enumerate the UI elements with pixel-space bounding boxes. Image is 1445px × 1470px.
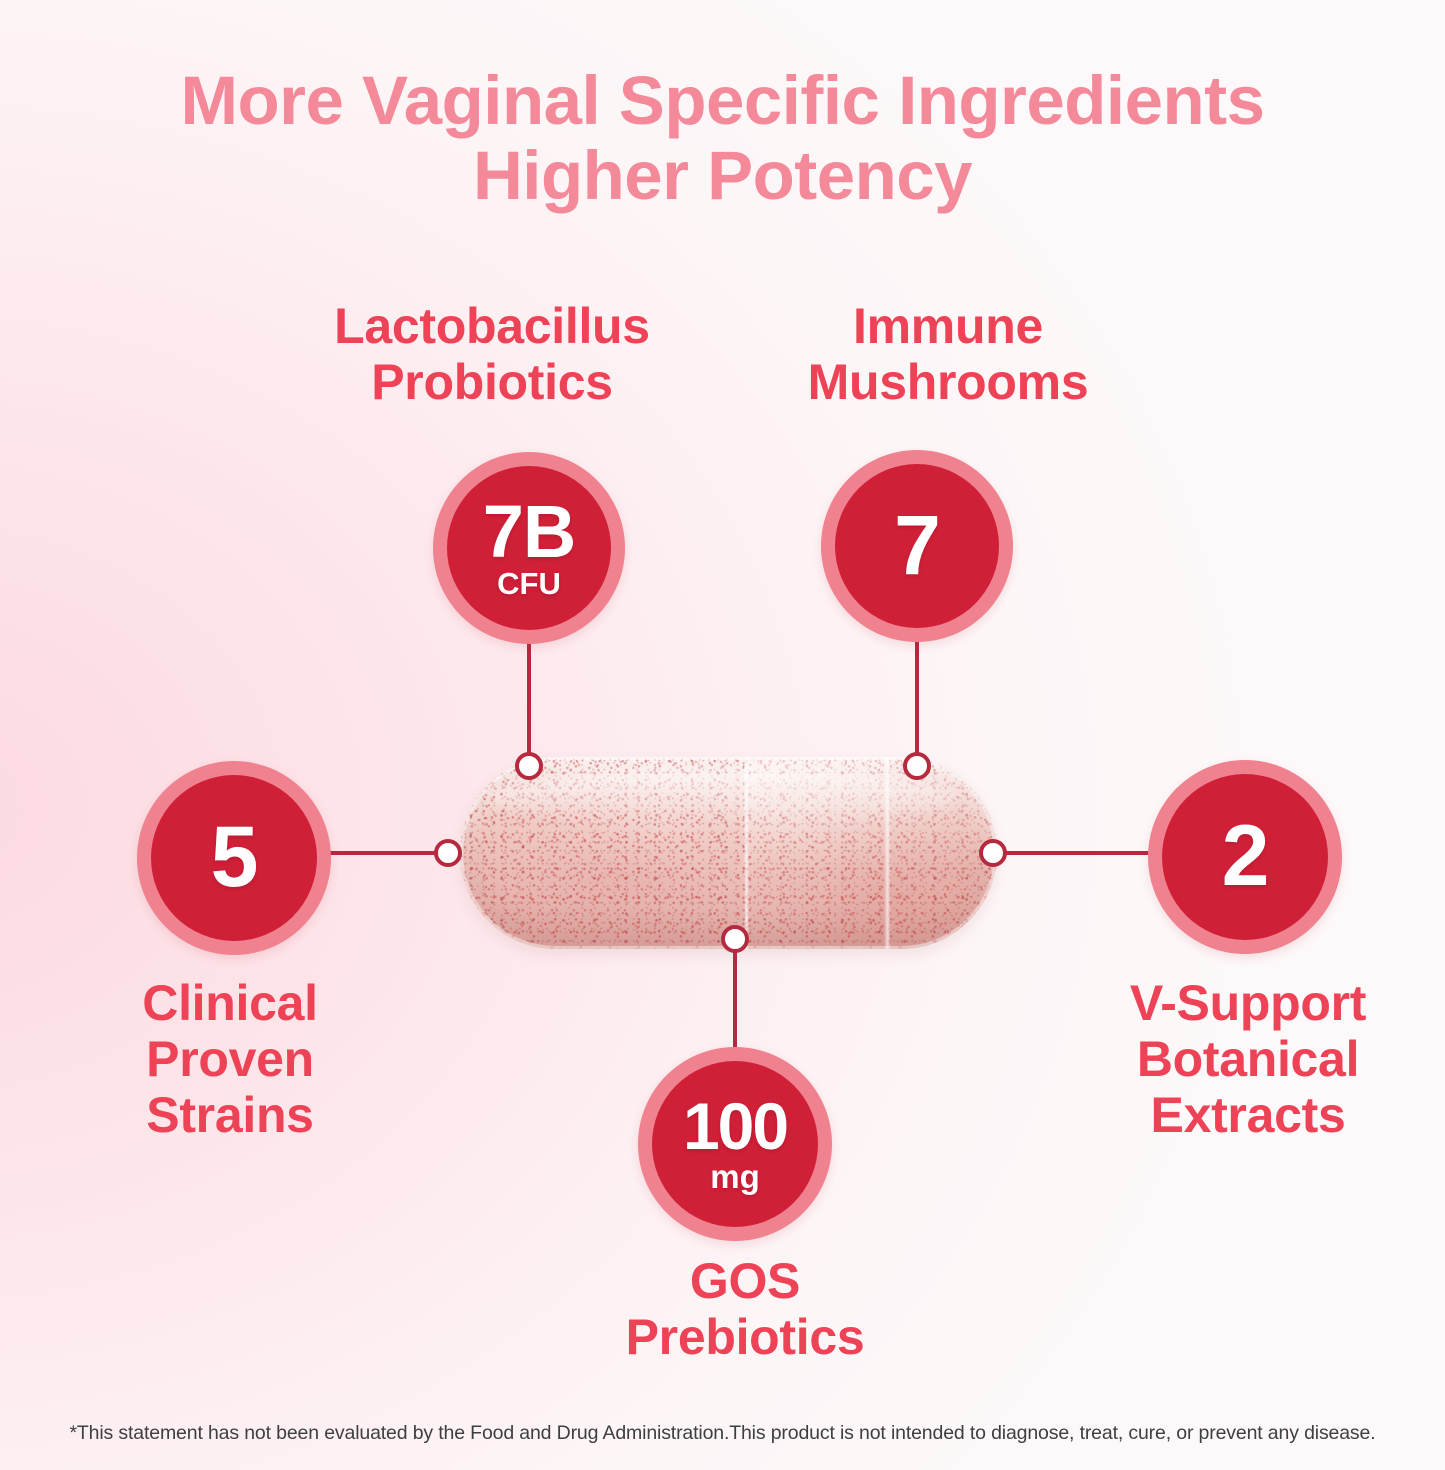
connector-line-lactobacillus	[527, 641, 531, 764]
capsule-rim	[460, 757, 997, 949]
badge-inner: 100 mg	[652, 1061, 818, 1227]
connector-dot-lactobacillus	[515, 752, 543, 780]
feature-label-line: Prebiotics	[545, 1309, 945, 1365]
badge-v-support-botanical-extracts: 2	[1148, 760, 1342, 954]
connector-dot-immune	[903, 752, 931, 780]
feature-label-line: Probiotics	[248, 354, 736, 410]
feature-label-gos-prebiotics: GOS Prebiotics	[545, 1253, 945, 1365]
badge-clinical-proven-strains: 5	[137, 761, 331, 955]
feature-label-line: GOS	[545, 1253, 945, 1309]
page-title-line-2: Higher Potency	[0, 139, 1445, 214]
badge-value: 7	[894, 506, 940, 586]
feature-label-line: Immune	[740, 298, 1156, 354]
ingredient-infographic: More Vaginal Specific Ingredients Higher…	[0, 0, 1445, 1470]
feature-label-clinical-proven-strains: Clinical Proven Strains	[60, 975, 400, 1143]
badge-unit: mg	[710, 1161, 760, 1192]
feature-label-line: Clinical	[60, 975, 400, 1031]
page-title: More Vaginal Specific Ingredients Higher…	[0, 64, 1445, 213]
capsule-image	[460, 757, 997, 949]
connector-line-gos	[733, 940, 737, 1052]
connector-line-vsupport	[993, 851, 1151, 855]
feature-label-lactobacillus-probiotics: Lactobacillus Probiotics	[248, 298, 736, 410]
badge-inner: 7B CFU	[447, 466, 611, 630]
feature-label-line: V-Support	[1068, 975, 1428, 1031]
badge-gos-prebiotics: 100 mg	[638, 1047, 832, 1241]
badge-inner: 7	[835, 464, 999, 628]
badge-lactobacillus-probiotics: 7B CFU	[433, 452, 625, 644]
connector-line-immune	[915, 639, 919, 764]
fda-disclaimer: *This statement has not been evaluated b…	[0, 1422, 1445, 1445]
badge-value: 2	[1222, 816, 1269, 898]
feature-label-line: Extracts	[1068, 1087, 1428, 1143]
connector-line-clinical	[329, 851, 446, 855]
connector-dot-vsupport	[979, 839, 1007, 867]
badge-value: 100	[683, 1095, 787, 1158]
feature-label-line: Proven	[60, 1031, 400, 1087]
badge-immune-mushrooms: 7	[821, 450, 1013, 642]
feature-label-line: Strains	[60, 1087, 400, 1143]
connector-dot-gos	[721, 925, 749, 953]
page-title-line-1: More Vaginal Specific Ingredients	[0, 64, 1445, 139]
feature-label-line: Lactobacillus	[248, 298, 736, 354]
feature-label-immune-mushrooms: Immune Mushrooms	[740, 298, 1156, 410]
badge-inner: 5	[151, 775, 317, 941]
connector-dot-clinical	[434, 839, 462, 867]
badge-unit: CFU	[497, 569, 561, 598]
badge-inner: 2	[1162, 774, 1328, 940]
feature-label-line: Mushrooms	[740, 354, 1156, 410]
feature-label-line: Botanical	[1068, 1031, 1428, 1087]
badge-value: 5	[211, 817, 258, 899]
feature-label-v-support-botanical-extracts: V-Support Botanical Extracts	[1068, 975, 1428, 1143]
badge-value: 7B	[483, 497, 576, 567]
